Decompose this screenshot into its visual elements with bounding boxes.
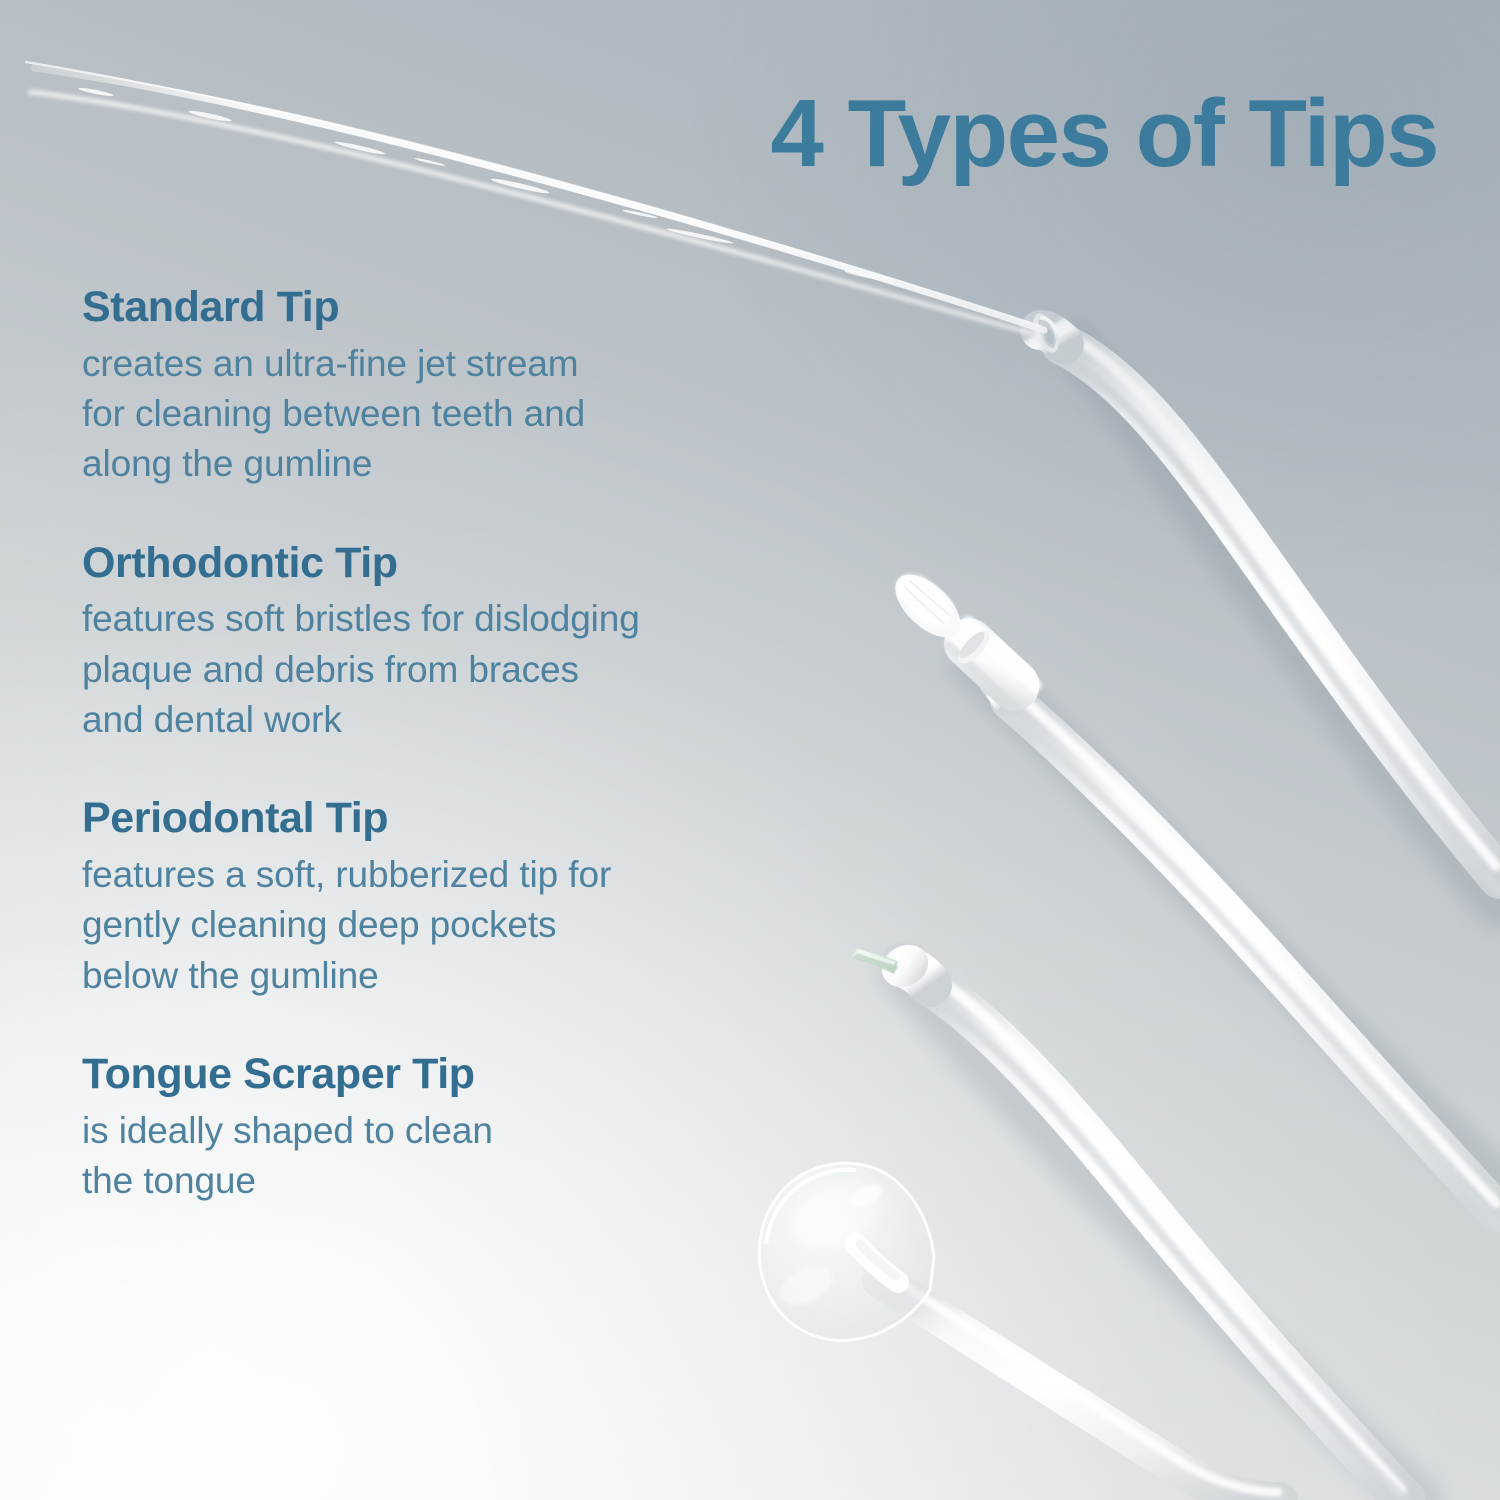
tip-body-line: the tongue — [82, 1156, 842, 1206]
tip-body-line: creates an ultra-fine jet stream — [82, 339, 842, 389]
tip-body-line: along the gumline — [82, 439, 842, 489]
tip-body-orthodontic: features soft bristles for dislodging pl… — [82, 594, 842, 745]
tip-body-line: features a soft, rubberized tip for — [82, 850, 842, 900]
tip-body-tongue-scraper: is ideally shaped to clean the tongue — [82, 1106, 842, 1207]
page-title: 4 Types of Tips — [771, 86, 1438, 182]
tip-body-line: for cleaning between teeth and — [82, 389, 842, 439]
tip-body-standard: creates an ultra-fine jet stream for cle… — [82, 339, 842, 490]
tip-section-periodontal: Periodontal Tip features a soft, rubberi… — [82, 793, 842, 1001]
tip-heading-tongue-scraper: Tongue Scraper Tip — [82, 1049, 842, 1100]
tongue-scraper-tip-nozzle — [759, 1163, 1280, 1500]
tip-body-line: below the gumline — [82, 951, 842, 1001]
tip-body-line: features soft bristles for dislodging — [82, 594, 842, 644]
tip-body-line: gently cleaning deep pockets — [82, 900, 842, 950]
tip-heading-orthodontic: Orthodontic Tip — [82, 538, 842, 589]
orthodontic-tip-nozzle — [884, 563, 1500, 1227]
tip-section-tongue-scraper: Tongue Scraper Tip is ideally shaped to … — [82, 1049, 842, 1206]
tip-body-periodontal: features a soft, rubberized tip for gent… — [82, 850, 842, 1001]
tip-section-standard: Standard Tip creates an ultra-fine jet s… — [82, 282, 842, 490]
tip-heading-standard: Standard Tip — [82, 282, 842, 333]
tip-body-line: is ideally shaped to clean — [82, 1106, 842, 1156]
tip-heading-periodontal: Periodontal Tip — [82, 793, 842, 844]
tip-body-line: and dental work — [82, 695, 842, 745]
standard-tip-nozzle — [1028, 310, 1500, 892]
tip-body-line: plaque and debris from braces — [82, 645, 842, 695]
periodontal-tip-nozzle — [852, 937, 1407, 1500]
tip-section-orthodontic: Orthodontic Tip features soft bristles f… — [82, 538, 842, 746]
tip-descriptions-list: Standard Tip creates an ultra-fine jet s… — [82, 282, 842, 1206]
infographic-canvas: 4 Types of Tips Standard Tip creates an … — [0, 0, 1500, 1500]
